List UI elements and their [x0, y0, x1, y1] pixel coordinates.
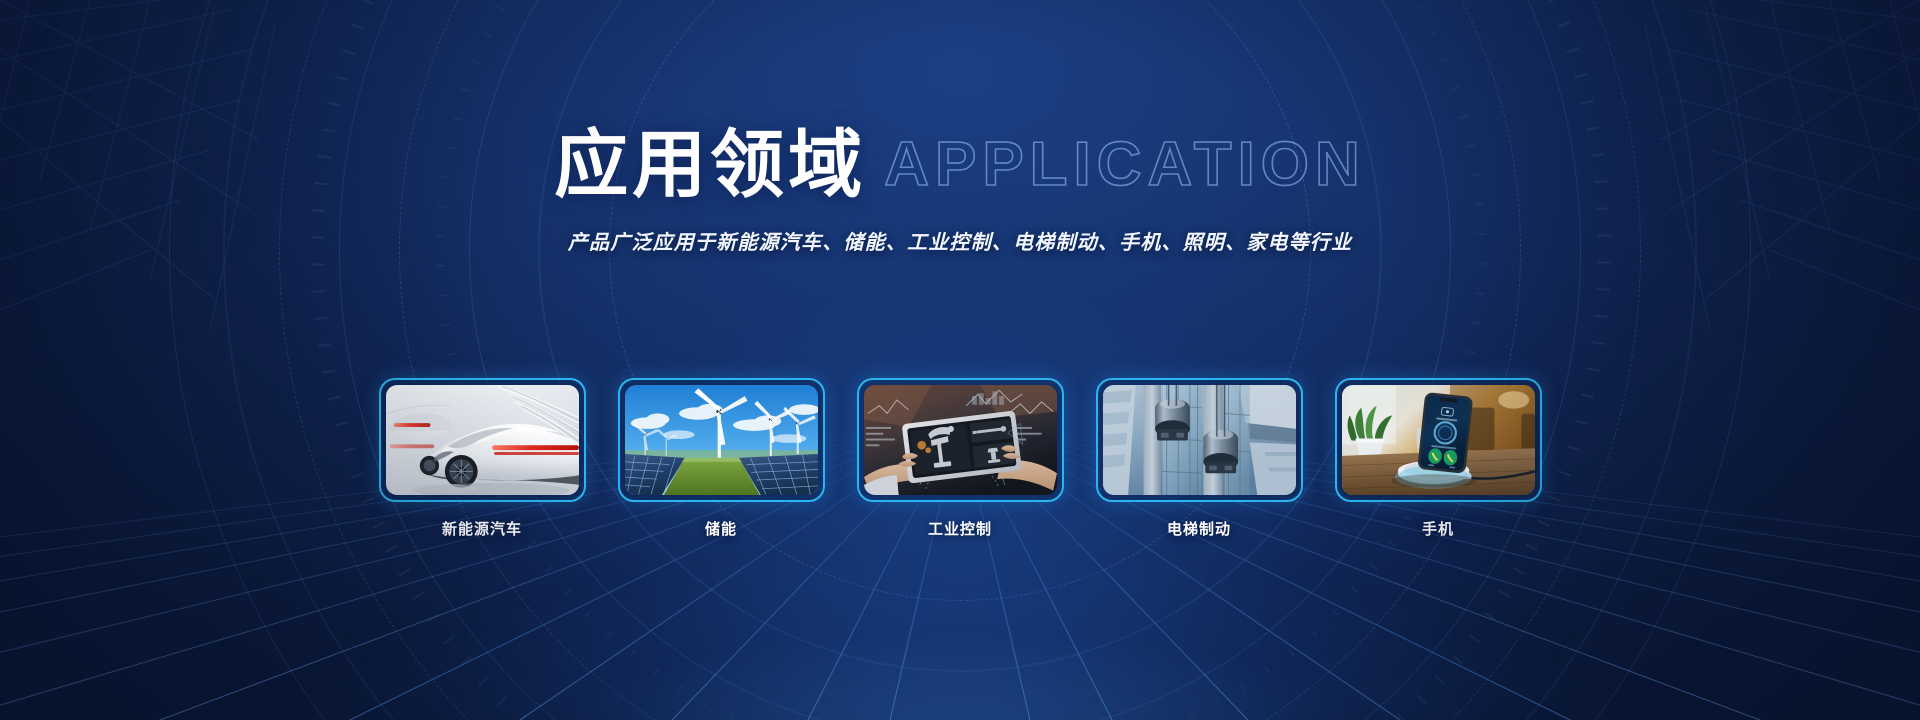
arc-tick	[1557, 22, 1570, 28]
arc-tick	[1430, 30, 1439, 36]
application-card-list: 新能源汽车	[0, 378, 1920, 539]
arc-tick	[1416, 3, 1425, 9]
card-frame[interactable]	[1096, 378, 1303, 502]
title-row: 应用领域 APPLICATION	[0, 118, 1920, 204]
arc-tick	[361, 0, 374, 5]
banner-header: 应用领域 APPLICATION 产品广泛应用于新能源汽车、储能、工业控制、电梯…	[0, 118, 1920, 255]
arc-tick	[1574, 73, 1587, 78]
arc-tick	[446, 352, 455, 356]
arc-tick	[1477, 263, 1486, 265]
arc-tick	[311, 263, 324, 265]
arc-tick	[1591, 341, 1604, 345]
application-card[interactable]: 储能	[618, 378, 825, 539]
arc-tick	[1441, 58, 1450, 63]
elevator-braking-photo	[1103, 385, 1296, 495]
arc-tick	[328, 102, 341, 107]
card-label: 储能	[618, 518, 825, 539]
card-label: 新能源汽车	[379, 518, 586, 539]
application-card[interactable]: 手机	[1335, 378, 1542, 539]
card-frame[interactable]	[379, 378, 586, 502]
arc-tick	[483, 32, 492, 38]
arc-tick	[1597, 288, 1610, 291]
card-frame[interactable]	[857, 378, 1064, 502]
page-subtitle: 产品广泛应用于新能源汽车、储能、工业控制、电梯制动、手机、照明、家电等行业	[0, 226, 1920, 255]
arc-tick	[1598, 261, 1611, 263]
arc-tick	[436, 265, 445, 267]
energy-storage-solar-wind-photo	[625, 385, 818, 495]
arc-tick	[1587, 367, 1600, 371]
arc-tick	[1472, 321, 1481, 324]
arc-tick	[1547, 0, 1560, 3]
industrial-control-tablet-photo	[864, 385, 1057, 495]
arc-tick	[496, 5, 505, 11]
arc-tick	[1475, 292, 1484, 295]
card-label: 电梯制动	[1096, 518, 1303, 539]
arc-tick	[318, 343, 331, 347]
arc-tick	[312, 290, 325, 293]
arc-tick	[1581, 100, 1594, 105]
card-frame[interactable]	[618, 378, 825, 502]
application-card[interactable]: 电梯制动	[1096, 378, 1303, 539]
arc-tick	[1467, 351, 1476, 355]
arc-tick	[441, 323, 450, 326]
arc-tick	[471, 60, 480, 65]
arc-tick	[323, 369, 336, 373]
application-banner: 应用领域 APPLICATION 产品广泛应用于新能源汽车、储能、工业控制、电梯…	[0, 0, 1920, 720]
arc-tick	[315, 317, 328, 320]
arc-tick	[334, 75, 347, 80]
arc-tick	[342, 49, 355, 55]
application-card[interactable]: 工业控制	[857, 378, 1064, 539]
arc-tick	[438, 294, 447, 297]
smartphone-wireless-charger-photo	[1342, 385, 1535, 495]
application-card[interactable]: 新能源汽车	[379, 378, 586, 539]
arc-tick	[461, 88, 470, 93]
card-frame[interactable]	[1335, 378, 1542, 502]
card-label: 手机	[1335, 518, 1542, 539]
page-title: 应用领域	[554, 126, 866, 204]
new-energy-vehicle-photo	[386, 385, 579, 495]
page-title-english: APPLICATION	[884, 128, 1366, 202]
arc-tick	[1595, 315, 1608, 318]
arc-tick	[1566, 47, 1579, 53]
arc-tick	[351, 23, 364, 29]
card-label: 工业控制	[857, 518, 1064, 539]
arc-tick	[1451, 86, 1460, 91]
